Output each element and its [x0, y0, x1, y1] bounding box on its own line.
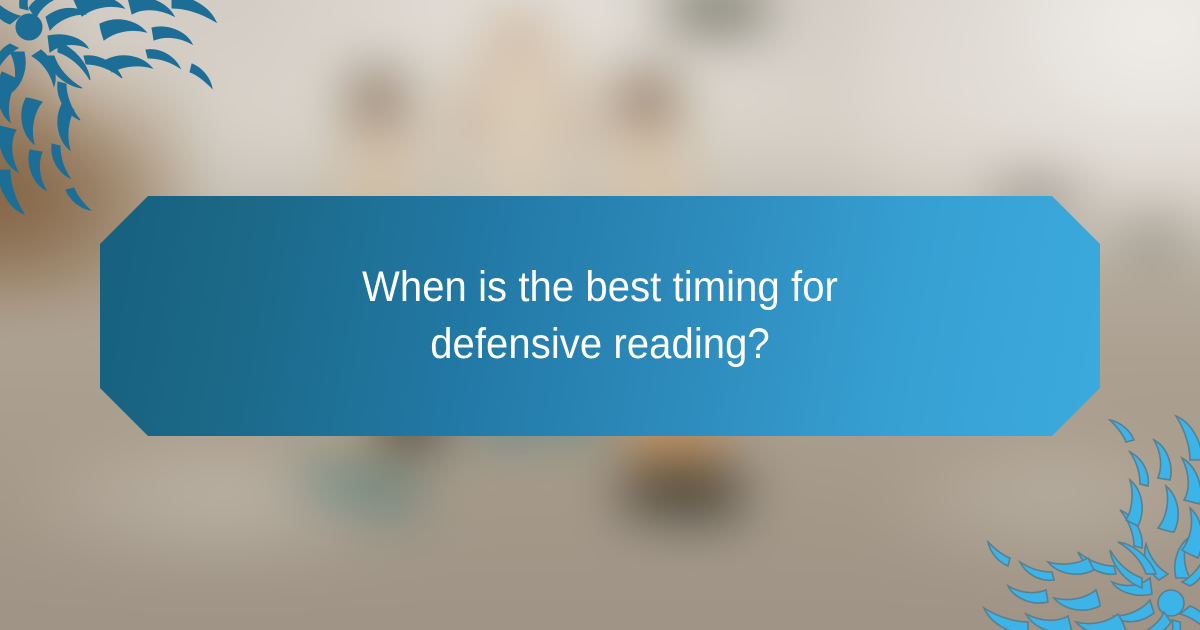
- quote-card: When is the best timing for defensive re…: [0, 0, 1200, 630]
- background-floor-object-right-b: [1114, 221, 1190, 249]
- headline-banner: When is the best timing for defensive re…: [100, 196, 1100, 436]
- background-wood-furniture-upper-left: [0, 0, 60, 137]
- page-title: When is the best timing for defensive re…: [293, 259, 907, 373]
- background-figure-right-shoe-right: [676, 472, 743, 513]
- background-wall-mounted-unit: [668, 0, 764, 27]
- background-floor-sheen-left: [0, 418, 449, 580]
